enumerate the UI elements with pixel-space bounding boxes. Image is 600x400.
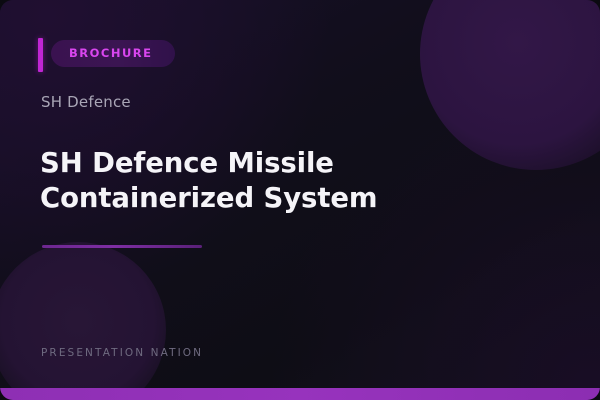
slide-subtitle: SH Defence	[41, 93, 131, 111]
bottom-accent-bar	[0, 388, 600, 400]
badge-label: BROCHURE	[69, 48, 153, 60]
slide-title: SH Defence Missile Containerized System	[40, 146, 540, 216]
badge-pill: BROCHURE	[51, 40, 175, 67]
slide-content: BROCHURE SH Defence SH Defence Missile C…	[0, 0, 600, 400]
accent-bar-icon	[38, 38, 43, 72]
brochure-title-slide: BROCHURE SH Defence SH Defence Missile C…	[0, 0, 600, 400]
title-divider	[42, 245, 202, 248]
badge-row: BROCHURE	[38, 38, 175, 68]
slide-footer: PRESENTATION NATION	[41, 347, 203, 359]
